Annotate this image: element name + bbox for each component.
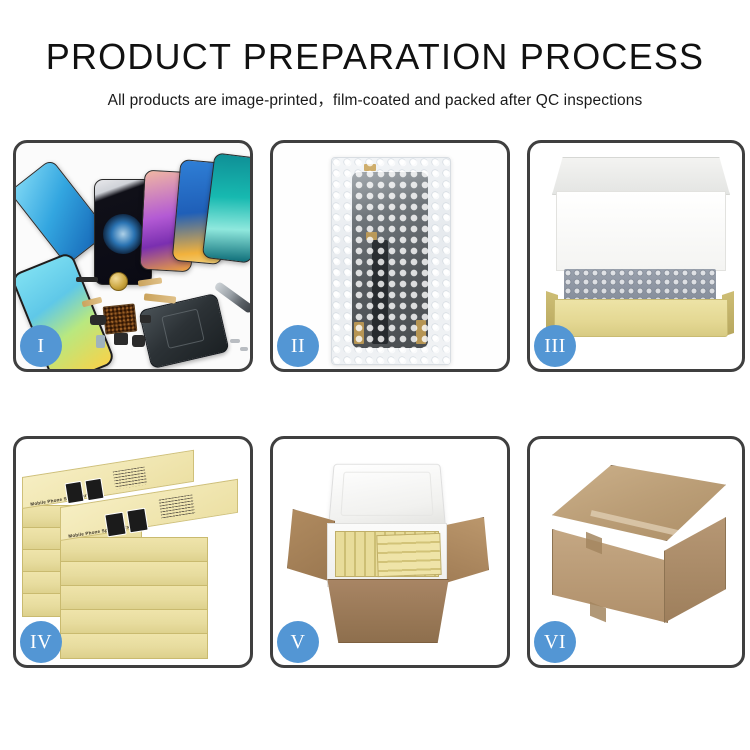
process-step-panel-2[interactable]: II — [270, 140, 510, 372]
screw-small-icon — [240, 347, 248, 351]
part-sim-tray-icon — [96, 335, 105, 348]
foam-lid-icon — [552, 157, 730, 195]
bubble-padding-icon — [564, 269, 716, 301]
step-badge-6: VI — [534, 621, 576, 663]
yellow-box-front-icon — [554, 299, 728, 337]
step-badge-2: II — [277, 325, 319, 367]
process-step-panel-4[interactable]: Mobile Phone Spare Parts Mobile Phone Sp… — [13, 436, 253, 668]
tape-middle-icon — [366, 232, 377, 240]
carton-left-face-icon — [552, 529, 668, 623]
box-label-screen-front-1 — [104, 512, 126, 538]
step-badge-1: I — [20, 325, 62, 367]
stacked-box-front-1 — [60, 537, 208, 563]
part-block-icon — [90, 315, 106, 325]
box-label-screen-rear-1 — [64, 481, 84, 504]
part-connector-icon — [140, 315, 151, 323]
part-bracket-icon — [114, 333, 128, 345]
stacked-box-front-4 — [60, 609, 208, 635]
part-strip-icon — [76, 277, 98, 282]
foam-sheet-icon — [556, 191, 726, 271]
tape-bottom-right-icon — [416, 320, 426, 344]
carton-top-face-icon — [552, 465, 726, 541]
box-label-screen-rear-2 — [84, 478, 104, 501]
flex-cable-long-icon — [144, 293, 177, 303]
process-step-panel-5[interactable]: V — [270, 436, 510, 668]
stacked-box-front-3 — [60, 585, 208, 611]
screw-icon — [230, 339, 240, 343]
stacked-box-front-5 — [60, 633, 208, 659]
tape-bottom-left-icon — [354, 322, 364, 344]
tape-top-icon — [364, 164, 376, 171]
part-speaker-icon — [132, 335, 145, 347]
process-step-panel-1[interactable]: I — [13, 140, 253, 372]
inner-boxes-stack-icon — [376, 533, 441, 577]
process-step-grid: I II III — [13, 140, 745, 680]
step-badge-4: IV — [20, 621, 62, 663]
box-label-screen-front-2 — [126, 508, 148, 534]
stacked-box-front-2 — [60, 561, 208, 587]
page-header: PRODUCT PREPARATION PROCESS All products… — [0, 0, 750, 110]
page-subtitle: All products are image-printed，film-coat… — [0, 88, 750, 110]
vibration-motor-icon — [109, 272, 128, 291]
carton-front-icon — [319, 579, 457, 643]
foam-box-lid-icon — [328, 464, 446, 528]
lcd-flex-tail-icon — [372, 240, 388, 344]
process-step-panel-6[interactable]: VI — [527, 436, 745, 668]
step-badge-3: III — [534, 325, 576, 367]
process-step-panel-3[interactable]: III — [527, 140, 745, 372]
step-badge-5: V — [277, 621, 319, 663]
phone-backplate-icon — [138, 293, 229, 369]
bubble-wrap-bag-icon — [331, 157, 451, 365]
chip-array-icon — [103, 303, 138, 334]
page-title: PRODUCT PREPARATION PROCESS — [0, 38, 750, 76]
